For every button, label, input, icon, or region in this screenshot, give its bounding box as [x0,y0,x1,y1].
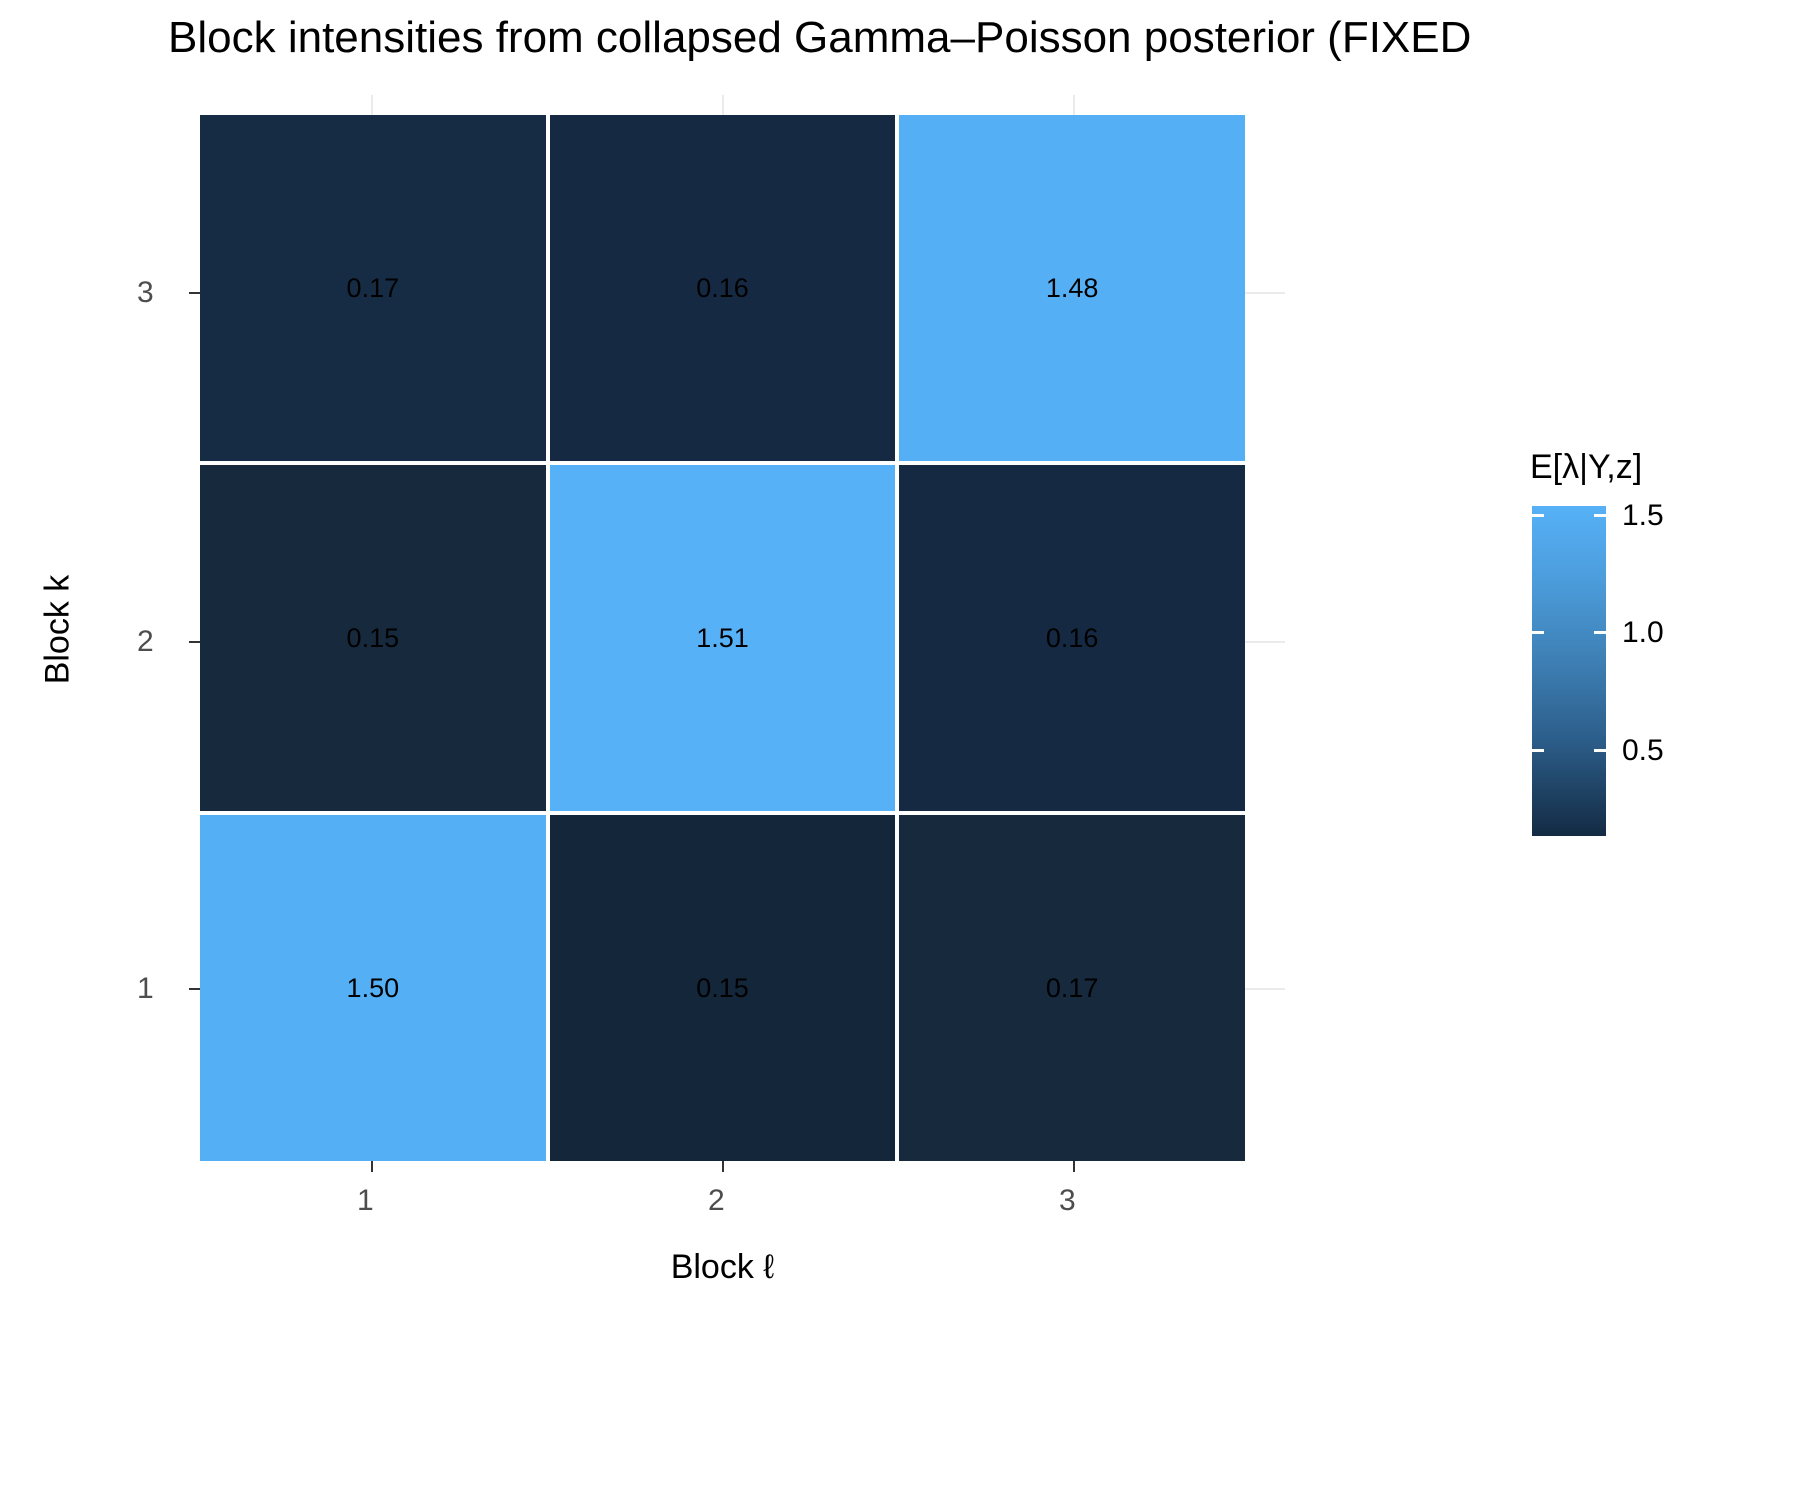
cell-value-label: 1.48 [1046,275,1099,302]
cell-value-label: 0.16 [696,275,749,302]
x-tick-label-1: 1 [357,1186,374,1216]
legend-label-low: 0.5 [1622,736,1664,766]
heatmap-tile-grid: 0.17 0.16 1.48 0.15 1.51 0.16 1.50 0.15 … [200,115,1245,1161]
grid-stub-y1 [1245,988,1285,990]
grid-stub-y2 [1245,641,1285,643]
cell-value-label: 0.15 [696,975,749,1002]
cell-value-label: 0.17 [1046,975,1099,1002]
x-axis-title: Block ℓ [200,1248,1245,1287]
legend-label-mid: 1.0 [1622,618,1664,648]
legend-tick-1.0-left [1532,631,1544,634]
cell-value-label: 1.51 [696,625,749,652]
x-tick-mark-3 [1073,1161,1075,1172]
cell-value-label: 0.15 [347,625,400,652]
grid-stub-x1 [371,95,373,115]
heatmap-cell-k2-l1[interactable]: 0.15 [200,465,546,811]
heatmap-cell-k3-l2[interactable]: 0.16 [550,115,896,461]
y-tick-label-2: 2 [137,627,154,657]
legend-colorbar[interactable] [1532,506,1606,836]
heatmap-cell-k1-l3[interactable]: 0.17 [899,815,1245,1161]
grid-stub-y3 [1245,292,1285,294]
heatmap-panel: 0.17 0.16 1.48 0.15 1.51 0.16 1.50 0.15 … [200,115,1245,1161]
x-tick-label-2: 2 [708,1186,725,1216]
y-tick-mark-3 [189,292,200,294]
heatmap-cell-k2-l3[interactable]: 0.16 [899,465,1245,811]
legend-tick-1.0-right [1594,631,1606,634]
heatmap-cell-k1-l1[interactable]: 1.50 [200,815,546,1161]
page-title: Block intensities from collapsed Gamma–P… [168,8,1471,68]
legend-tick-0.5-right [1594,749,1606,752]
legend-gradient [1532,506,1606,836]
grid-stub-x2 [722,95,724,115]
y-axis-title: Block k [39,510,78,750]
heatmap-cell-k3-l1[interactable]: 0.17 [200,115,546,461]
heatmap-cell-k1-l2[interactable]: 0.15 [550,815,896,1161]
legend-label-high: 1.5 [1622,501,1664,531]
heatmap-cell-k3-l3[interactable]: 1.48 [899,115,1245,461]
x-tick-mark-2 [722,1161,724,1172]
cell-value-label: 0.16 [1046,625,1099,652]
y-tick-mark-1 [189,988,200,990]
y-tick-label-1: 1 [137,974,154,1004]
grid-stub-x3 [1073,95,1075,115]
cell-value-label: 0.17 [347,275,400,302]
legend-tick-1.5-left [1532,514,1544,517]
y-tick-label-3: 3 [137,278,154,308]
legend-tick-0.5-left [1532,749,1544,752]
legend-tick-1.5-right [1594,514,1606,517]
x-tick-label-3: 3 [1059,1186,1076,1216]
cell-value-label: 1.50 [347,975,400,1002]
heatmap-cell-k2-l2[interactable]: 1.51 [550,465,896,811]
y-tick-mark-2 [189,641,200,643]
x-tick-mark-1 [371,1161,373,1172]
legend-title: E[λ|Y,z] [1530,448,1642,487]
